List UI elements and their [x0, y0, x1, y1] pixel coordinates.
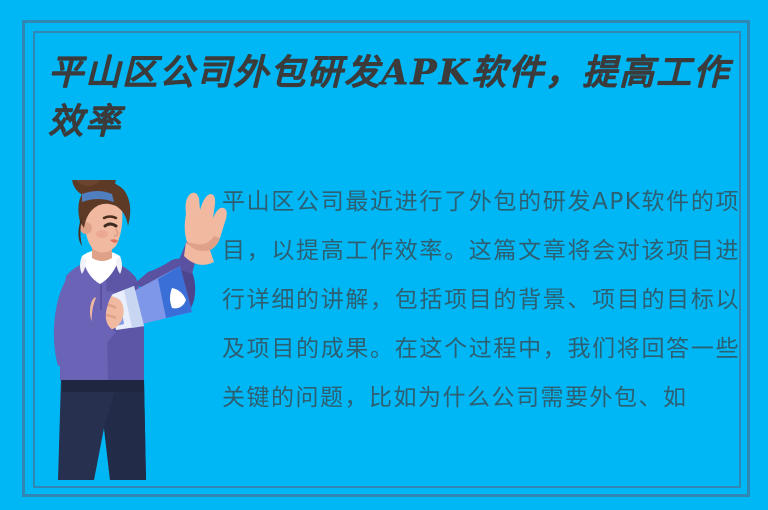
- page-title: 平山区公司外包研发APK软件，提高工作效率: [48, 48, 748, 146]
- poster-canvas: 平山区公司外包研发APK软件，提高工作效率: [0, 0, 768, 510]
- illustration-woman-with-megaphone: [36, 180, 236, 488]
- zipper: [100, 284, 102, 310]
- cheek-blush: [96, 230, 108, 238]
- body-paragraph: 平山区公司最近进行了外包的研发APK软件的项目，以提高工作效率。这篇文章将会对该…: [222, 178, 740, 474]
